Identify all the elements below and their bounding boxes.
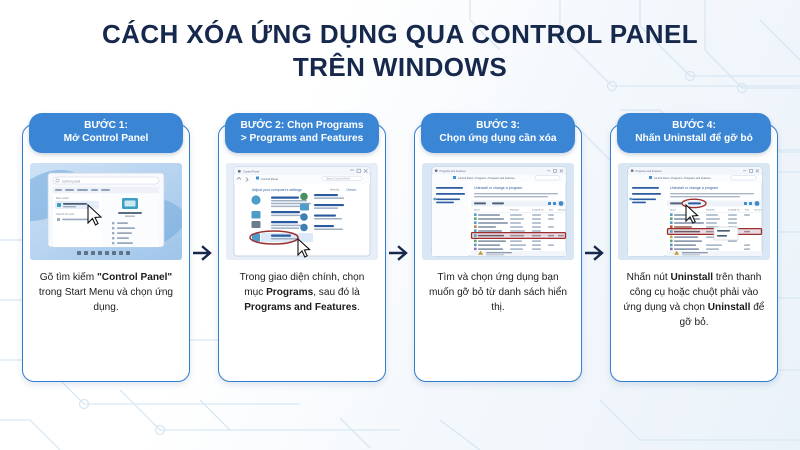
step-1-thumbnail[interactable]: control panel Best match Se	[30, 163, 182, 260]
svg-text:Publisher: Publisher	[706, 209, 715, 212]
svg-text:Version: Version	[754, 209, 762, 212]
svg-text:Version: Version	[558, 209, 566, 212]
svg-text:Adjust your computer's setting: Adjust your computer's settings	[252, 188, 302, 192]
infographic-canvas: CÁCH XÓA ỨNG DỤNG QUA CONTROL PANEL TRÊN…	[0, 0, 800, 450]
arrow-right-icon	[585, 245, 607, 261]
step-card-1[interactable]: BƯỚC 1: Mở Control Panel cont	[22, 124, 190, 382]
title-line-2: TRÊN WINDOWS	[0, 51, 800, 84]
step-2-thumbnail[interactable]: Control Panel Control Panel Search Contr…	[226, 163, 378, 260]
svg-text:Name: Name	[474, 210, 481, 212]
svg-text:Control Panel › Programs › Pro: Control Panel › Programs › Programs and …	[458, 177, 515, 180]
step-3-description: Tìm và chọn ứng dụng bạn muốn gỡ bỏ từ d…	[423, 271, 573, 316]
step-3-header-line-2: Chọn ứng dụng cần xóa	[425, 132, 571, 145]
step-card-4[interactable]: BƯỚC 4: Nhấn Uninstall để gỡ bỏ Programs…	[610, 124, 778, 382]
control-panel-category-view-screenshot: Control Panel Control Panel Search Contr…	[226, 163, 378, 260]
arrow-1-to-2	[190, 124, 218, 382]
svg-text:Programs and Features: Programs and Features	[440, 170, 467, 173]
step-card-2[interactable]: BƯỚC 2: Chọn Programs > Programs and Fea…	[218, 124, 386, 382]
step-4-header-line-2: Nhấn Uninstall để gỡ bỏ	[621, 132, 767, 145]
step-3-thumbnail[interactable]: Programs and Features Control Panel › Pr…	[422, 163, 574, 260]
arrow-3-to-4	[582, 124, 610, 382]
svg-text:Control Panel › Programs › Pro: Control Panel › Programs › Programs and …	[654, 177, 711, 180]
step-2-header-line-2: > Programs and Features	[229, 132, 375, 145]
step-4-description: Nhấn nút Uninstall trên thanh công cụ ho…	[619, 271, 769, 331]
step-4-thumbnail[interactable]: Programs and Features Control Panel › Pr…	[618, 163, 770, 260]
step-4-header-line-1: BƯỚC 4:	[672, 120, 716, 131]
arrow-right-icon	[389, 245, 411, 261]
step-4-header: BƯỚC 4: Nhấn Uninstall để gỡ bỏ	[617, 113, 771, 153]
step-2-header: BƯỚC 2: Chọn Programs > Programs and Fea…	[225, 113, 379, 153]
svg-text:control panel: control panel	[62, 180, 81, 184]
step-2-description: Trong giao diện chính, chọn mục Programs…	[227, 271, 377, 316]
programs-and-features-list-screenshot: Programs and Features Control Panel › Pr…	[422, 163, 574, 260]
svg-text:Control Panel: Control Panel	[243, 170, 260, 174]
svg-text:Best match: Best match	[56, 196, 70, 200]
arrow-2-to-3	[386, 124, 414, 382]
page-title: CÁCH XÓA ỨNG DỤNG QUA CONTROL PANEL TRÊN…	[0, 18, 800, 85]
svg-text:View by:: View by:	[330, 188, 340, 192]
arrow-right-icon	[193, 245, 215, 261]
uninstall-button-context-menu-screenshot: Programs and Features Control Panel › Pr…	[618, 163, 770, 260]
context-menu	[714, 227, 738, 240]
svg-text:Category: Category	[346, 188, 357, 192]
svg-text:Uninstall or change a program: Uninstall or change a program	[474, 186, 522, 190]
svg-text:Publisher: Publisher	[510, 209, 519, 212]
step-1-header-line-1: BƯỚC 1:	[84, 120, 128, 131]
svg-text:Control Panel: Control Panel	[261, 177, 278, 181]
step-1-header-line-2: Mở Control Panel	[33, 132, 179, 145]
windows-start-menu-search-screenshot: control panel Best match Se	[30, 163, 182, 260]
step-card-3[interactable]: BƯỚC 3: Chọn ứng dụng cần xóa Programs a…	[414, 124, 582, 382]
svg-text:Installed On: Installed On	[532, 209, 544, 212]
step-1-header: BƯỚC 1: Mở Control Panel	[29, 113, 183, 153]
svg-text:Uninstall or change a program: Uninstall or change a program	[670, 186, 718, 190]
step-1-description: Gõ tìm kiếm "Control Panel" trong Start …	[31, 271, 181, 316]
svg-text:Programs and Features: Programs and Features	[636, 170, 663, 173]
svg-text:Search Control Panel: Search Control Panel	[326, 178, 350, 181]
steps-row: BƯỚC 1: Mở Control Panel cont	[22, 124, 778, 382]
svg-text:Name: Name	[670, 210, 677, 212]
step-2-header-line-1: BƯỚC 2: Chọn Programs	[241, 120, 364, 131]
step-3-header-line-1: BƯỚC 3:	[476, 120, 520, 131]
svg-text:Installed On: Installed On	[728, 209, 740, 212]
svg-text:Search the web: Search the web	[56, 212, 75, 216]
step-3-header: BƯỚC 3: Chọn ứng dụng cần xóa	[421, 113, 575, 153]
title-line-1: CÁCH XÓA ỨNG DỤNG QUA CONTROL PANEL	[0, 18, 800, 51]
